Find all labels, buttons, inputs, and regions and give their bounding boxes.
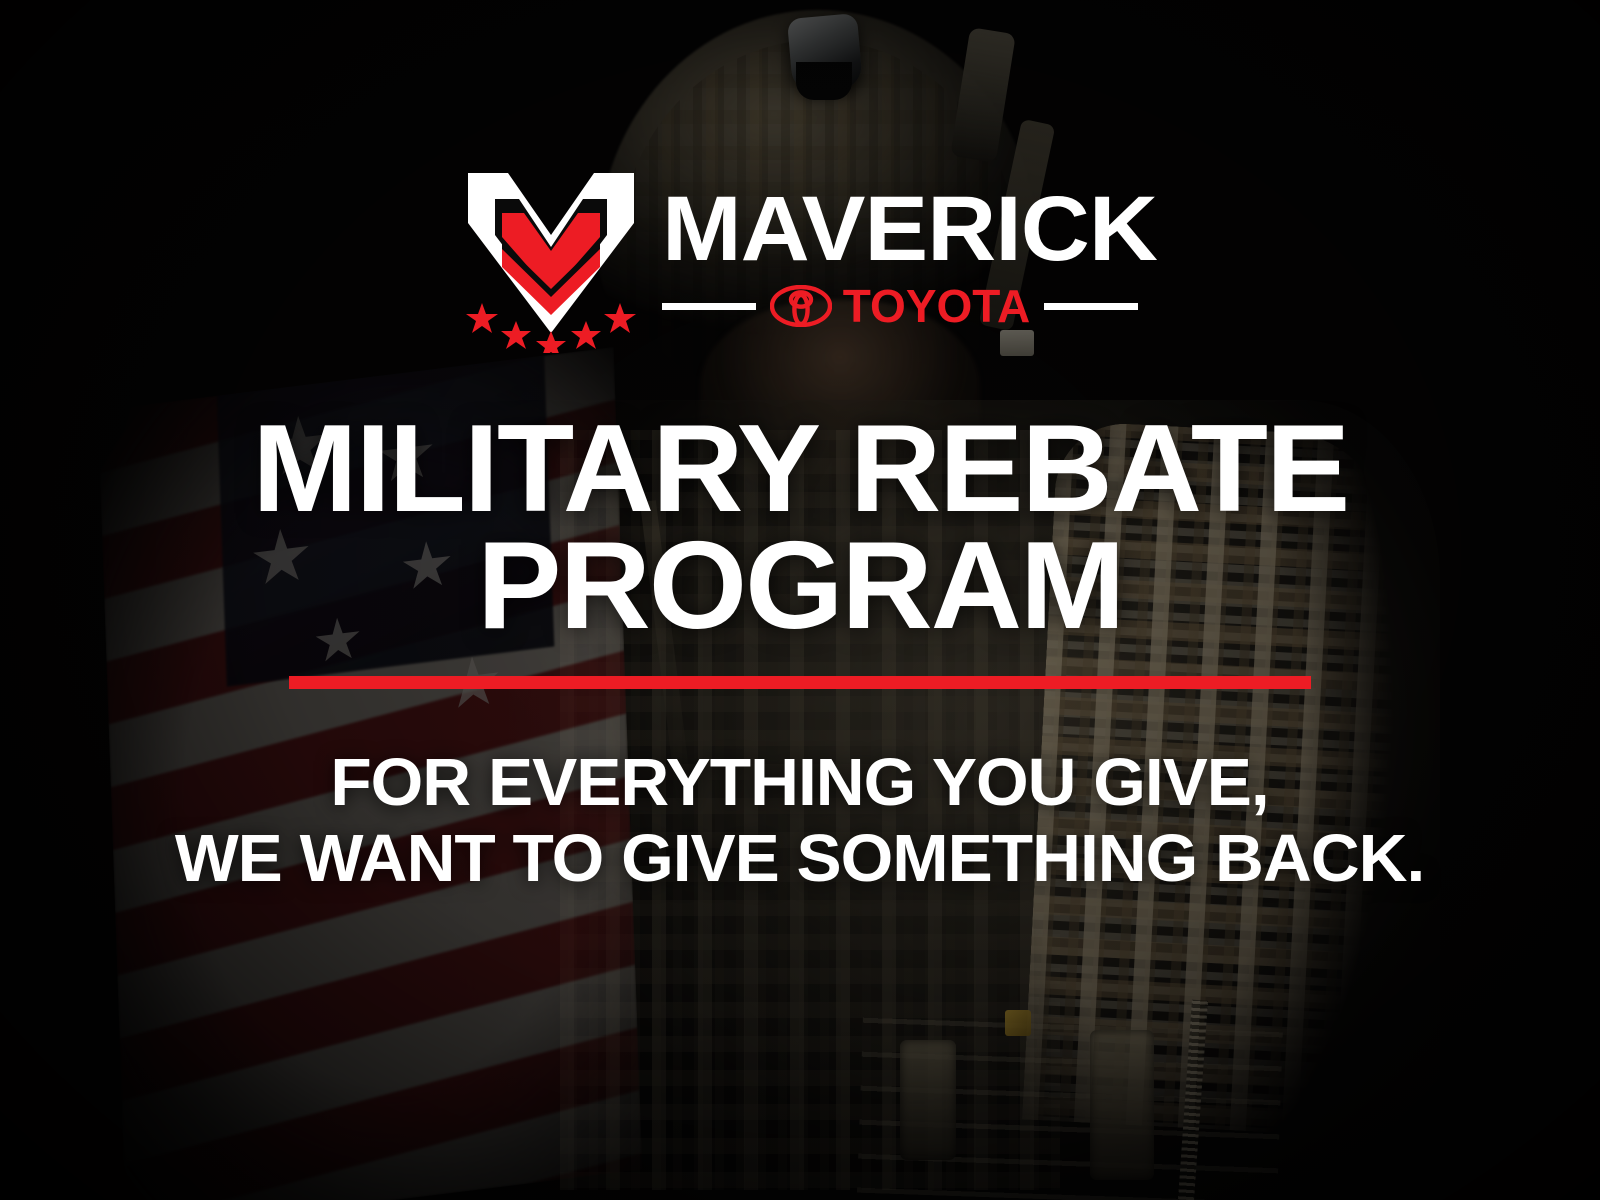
subhead-line-2: WE WANT TO GIVE SOMETHING BACK. — [175, 821, 1424, 897]
page-title: MILITARY REBATE PROGRAM — [252, 411, 1348, 644]
banner-content: MAVERICK TOYOTA — [0, 0, 1600, 1200]
red-divider-rule — [289, 676, 1311, 689]
page-subtitle: FOR EVERYTHING YOU GIVE, WE WANT TO GIVE… — [175, 745, 1424, 898]
toyota-badge: TOYOTA — [770, 283, 1030, 329]
subhead-line-1: FOR EVERYTHING YOU GIVE, — [175, 745, 1424, 821]
brand-text-block: MAVERICK TOYOTA — [662, 187, 1138, 330]
toyota-ellipse-logo-icon — [770, 285, 832, 327]
chevron-shield-emblem-icon — [462, 163, 640, 353]
headline-line-2: PROGRAM — [252, 528, 1348, 645]
rule-right — [1044, 303, 1138, 310]
headline-line-1: MILITARY REBATE — [252, 411, 1348, 528]
brand-name: MAVERICK — [662, 187, 1157, 272]
maverick-toyota-logo[interactable]: MAVERICK TOYOTA — [462, 163, 1138, 353]
toyota-sub-lockup: TOYOTA — [662, 283, 1138, 329]
rule-left — [662, 303, 756, 310]
military-rebate-banner: MAVERICK TOYOTA — [0, 0, 1600, 1200]
toyota-wordmark: TOYOTA — [843, 283, 1030, 329]
